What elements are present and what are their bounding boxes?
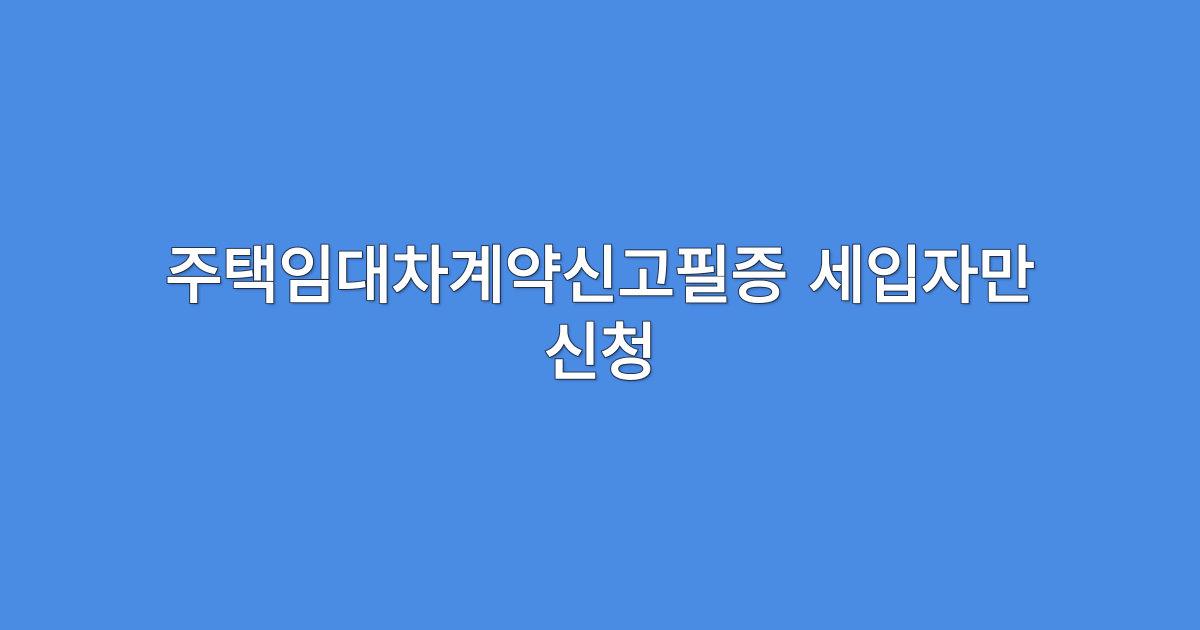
og-image-card: 주택임대차계약신고필증 세입자만 신청 (0, 0, 1200, 630)
page-title: 주택임대차계약신고필증 세입자만 신청 (110, 238, 1090, 392)
headline-container: 주택임대차계약신고필증 세입자만 신청 (110, 238, 1090, 392)
